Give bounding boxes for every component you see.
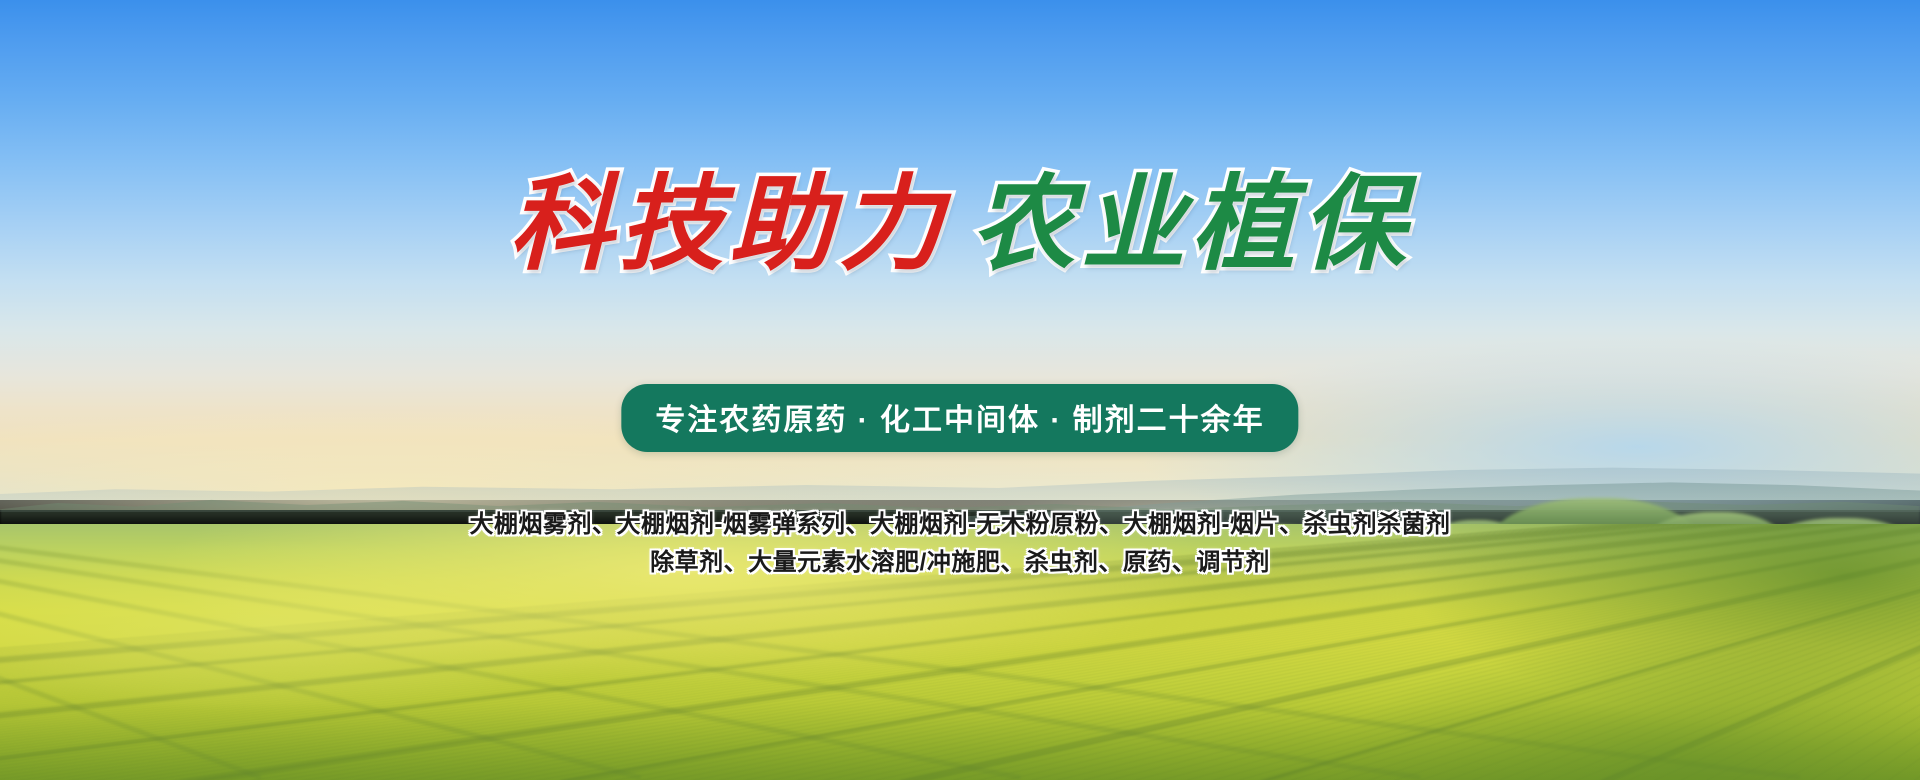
headline-green-text: 农业植保 (971, 172, 1411, 276)
page-title: 科技助力农业植保 (0, 172, 1920, 276)
product-list: 大棚烟雾剂、大棚烟剂-烟雾弹系列、大棚烟剂-无木粉原粉、大棚烟剂-烟片、杀虫剂杀… (0, 506, 1920, 582)
tagline-badge: 专注农药原药 · 化工中间体 · 制剂二十余年 (621, 384, 1298, 452)
headline-red-text: 科技助力 (509, 172, 949, 276)
product-line-1: 大棚烟雾剂、大棚烟剂-烟雾弹系列、大棚烟剂-无木粉原粉、大棚烟剂-烟片、杀虫剂杀… (0, 506, 1920, 544)
hero-banner: 科技助力农业植保 专注农药原药 · 化工中间体 · 制剂二十余年 大棚烟雾剂、大… (0, 0, 1920, 780)
product-line-2: 除草剂、大量元素水溶肥/冲施肥、杀虫剂、原药、调节剂 (0, 544, 1920, 582)
